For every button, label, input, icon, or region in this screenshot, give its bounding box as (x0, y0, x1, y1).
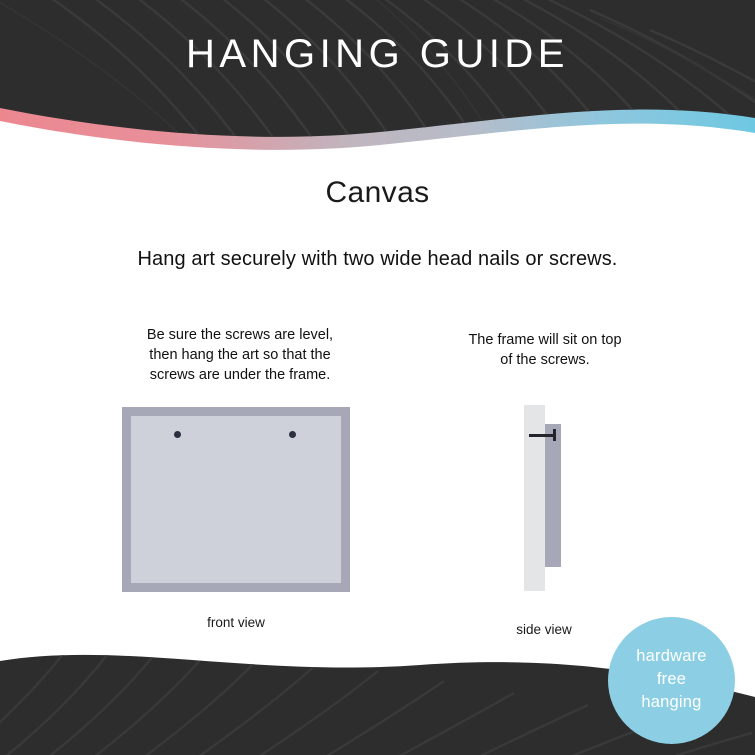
side-view-screw-head-icon (553, 429, 556, 441)
side-view-screw-shaft-icon (529, 434, 556, 437)
front-view-instruction-line-1: Be sure the screws are level, (100, 325, 380, 345)
hardware-free-badge-text: hardware free hanging (636, 645, 706, 716)
side-view-instruction: The frame will sit on top of the screws. (440, 330, 650, 370)
side-view-instruction-line-1: The frame will sit on top (440, 330, 650, 350)
hanging-guide-page: HANGING GUIDE Canvas Hang art securely w… (0, 0, 755, 755)
front-view-canvas (131, 416, 341, 583)
side-view-frame (545, 424, 561, 567)
page-title: HANGING GUIDE (0, 32, 755, 77)
header-banner: HANGING GUIDE (0, 0, 755, 150)
badge-line-3: hanging (636, 691, 706, 714)
side-view-panel: The frame will sit on top of the screws. (440, 330, 650, 370)
screw-dot-left-icon (174, 431, 181, 438)
side-view-instruction-line-2: of the screws. (440, 350, 650, 370)
side-view-wall (524, 405, 545, 591)
hardware-free-badge: hardware free hanging (608, 617, 735, 744)
front-view-panel: Be sure the screws are level, then hang … (100, 325, 380, 385)
screw-dot-right-icon (289, 431, 296, 438)
badge-line-1: hardware (636, 645, 706, 668)
lead-instruction: Hang art securely with two wide head nai… (0, 248, 755, 271)
front-view-instruction-line-3: screws are under the frame. (100, 365, 380, 385)
front-view-instruction-line-2: then hang the art so that the (100, 345, 380, 365)
badge-line-2: free (636, 668, 706, 691)
product-type-heading: Canvas (0, 176, 755, 210)
front-view-instruction: Be sure the screws are level, then hang … (100, 325, 380, 385)
